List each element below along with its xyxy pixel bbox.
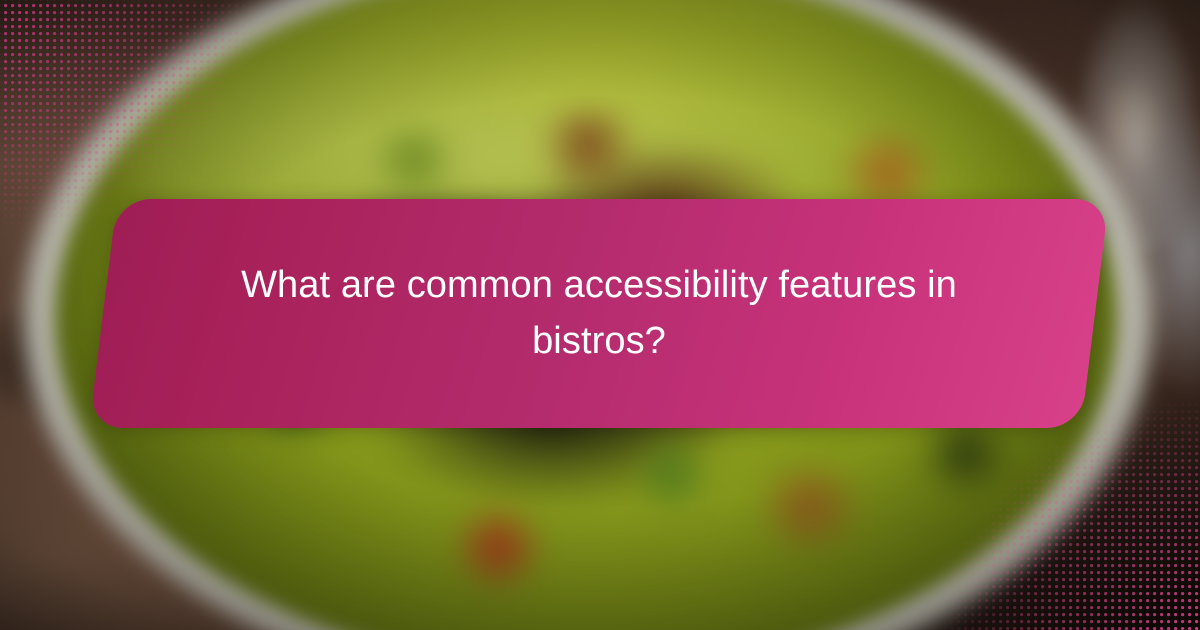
social-share-card: What are common accessibility features i… xyxy=(0,0,1200,630)
question-banner-content: What are common accessibility features i… xyxy=(103,199,1095,428)
question-banner: What are common accessibility features i… xyxy=(89,199,1109,428)
question-text: What are common accessibility features i… xyxy=(229,258,969,368)
